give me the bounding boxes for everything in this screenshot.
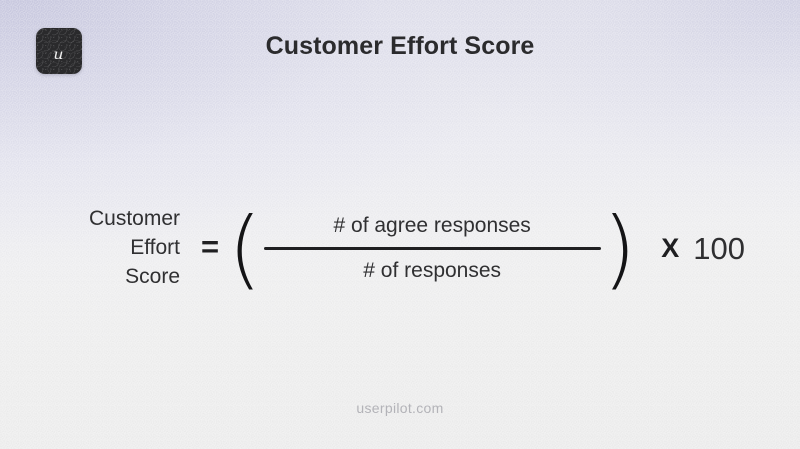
fraction: # of agree responses # of responses: [264, 214, 601, 283]
formula-left-label: Customer Effort Score: [0, 205, 180, 292]
fraction-numerator: # of agree responses: [264, 214, 601, 247]
formula-block: Customer Effort Score = ( # of agree res…: [0, 205, 800, 292]
footer-attribution: userpilot.com: [0, 400, 800, 416]
equals-sign: =: [201, 231, 219, 265]
formula-label-line-3: Score: [0, 263, 180, 292]
slide-canvas: ᵤ Customer Effort Score Customer Effort …: [0, 0, 800, 449]
multiplier-value: 100: [693, 233, 745, 264]
formula-label-line-2: Effort: [0, 234, 180, 263]
formula-label-line-1: Customer: [0, 205, 180, 234]
fraction-denominator: # of responses: [264, 250, 601, 283]
page-title: Customer Effort Score: [0, 32, 800, 61]
multiply-sign: X: [661, 235, 679, 262]
